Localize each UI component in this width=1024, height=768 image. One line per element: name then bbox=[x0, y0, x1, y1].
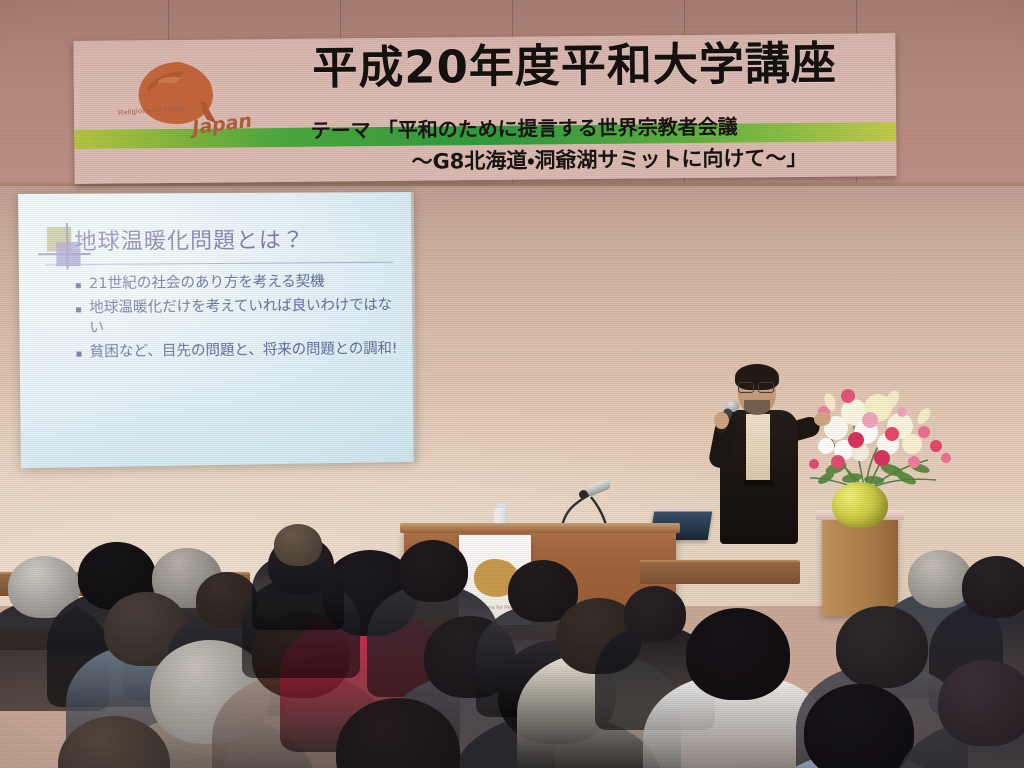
list-item: 21世紀の社会のあり方を考える契機 bbox=[76, 271, 405, 294]
presenter bbox=[706, 364, 826, 544]
banner-subtitle-line2: 〜G8北海道・洞爺湖サミットに向けて〜」 bbox=[319, 141, 896, 177]
audience-member bbox=[896, 660, 1024, 768]
glasses-right-lens-icon bbox=[758, 382, 774, 393]
list-item: 地球温暖化だけを考えていれば良いわけではない bbox=[76, 295, 406, 339]
audience-member bbox=[252, 524, 344, 642]
slide-bullet-list: 21世紀の社会のあり方を考える契機 地球温暖化だけを考えていれば良いわけではない… bbox=[76, 271, 406, 366]
bullet-square-icon bbox=[76, 307, 81, 312]
presenter-belt bbox=[744, 480, 774, 486]
slide-title: 地球温暖化問題とは？ bbox=[74, 222, 305, 256]
bullet-square-icon bbox=[76, 283, 81, 288]
bullet-square-icon bbox=[76, 351, 81, 356]
audience-member-head bbox=[274, 524, 322, 566]
list-item: 貧困など、目先の問題と、将来の問題との調和! bbox=[76, 339, 405, 363]
slide-bullet-3: 貧困など、目先の問題と、将来の問題との調和! bbox=[90, 339, 398, 363]
slide-bullet-2: 地球温暖化だけを考えていれば良いわけではない bbox=[89, 295, 405, 339]
presenter-beard bbox=[744, 400, 770, 415]
audience-member bbox=[288, 698, 508, 768]
slide-title-rule bbox=[45, 262, 393, 266]
presenter-shirt bbox=[746, 414, 770, 484]
presenter-left-hand bbox=[714, 412, 729, 429]
slide-bullet-1: 21世紀の社会のあり方を考える契機 bbox=[89, 272, 325, 295]
audience-seating bbox=[0, 520, 1024, 768]
bench-row bbox=[640, 560, 800, 584]
audience-member-head bbox=[938, 660, 1024, 746]
audience-member-head bbox=[962, 556, 1024, 618]
audience-member bbox=[15, 716, 213, 768]
audience-member-head bbox=[58, 716, 170, 768]
banner-title: 平成20年度平和大学講座 bbox=[269, 36, 879, 97]
audience-member-head bbox=[398, 540, 468, 602]
audience-member-head bbox=[336, 698, 460, 768]
event-banner: Religions for Peace Japan 平成20年度平和大学講座 テ… bbox=[73, 33, 896, 184]
projection-screen: 地球温暖化問題とは？ 21世紀の社会のあり方を考える契機 地球温暖化だけを考えて… bbox=[18, 192, 417, 468]
conference-hall-photo: Religions for Peace Japan 平成20年度平和大学講座 テ… bbox=[0, 0, 1024, 768]
banner-subtitle-line1: テーマ 「平和のために提言する世界宗教者会議 bbox=[224, 110, 824, 145]
glasses-left-lens-icon bbox=[738, 382, 754, 393]
